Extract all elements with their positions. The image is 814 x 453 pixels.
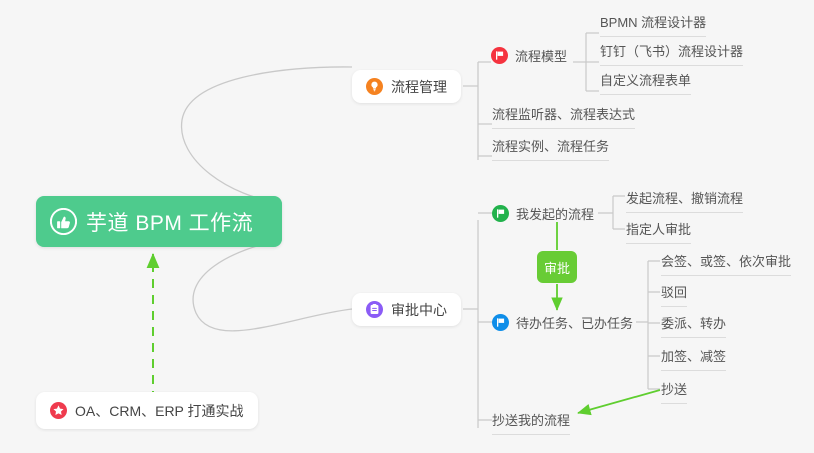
mid-label-process-model: 流程模型	[515, 46, 567, 65]
wire-cc-to-cc-mine	[578, 390, 660, 413]
document-icon	[366, 301, 383, 318]
mid-label-my-initiated: 我发起的流程	[516, 204, 594, 223]
note-label: OA、CRM、ERP 打通实战	[75, 401, 244, 421]
leaf-node-start-cancel-process[interactable]: 发起流程、撤销流程	[626, 188, 743, 213]
leaf-node-dingtalk-designer[interactable]: 钉钉（飞书）流程设计器	[600, 41, 743, 66]
note-node[interactable]: OA、CRM、ERP 打通实战	[36, 392, 258, 429]
star-icon	[50, 402, 67, 419]
root-node[interactable]: 芋道 BPM 工作流	[36, 196, 282, 247]
leaf-node-delegate-transfer[interactable]: 委派、转办	[661, 313, 726, 338]
leaf-node-assignee-approval[interactable]: 指定人审批	[626, 219, 691, 244]
approve-badge[interactable]: 审批	[537, 251, 577, 283]
lightbulb-icon	[366, 78, 383, 95]
leaf-node-cc[interactable]: 抄送	[661, 379, 687, 404]
leaf-node-custom-form[interactable]: 自定义流程表单	[600, 70, 691, 95]
wire-root-to-approval-center	[193, 240, 352, 331]
flag-green-icon	[492, 205, 509, 222]
leaf-node-countersign[interactable]: 会签、或签、依次审批	[661, 251, 791, 276]
leaf-node-cc-mine[interactable]: 抄送我的流程	[492, 410, 570, 435]
leaf-node-reject[interactable]: 驳回	[661, 282, 687, 307]
mid-label-todo-done: 待办任务、已办任务	[516, 313, 633, 332]
branch-label-approval-center: 审批中心	[391, 300, 447, 320]
branch-label-process-management: 流程管理	[391, 77, 447, 97]
flag-red-icon	[491, 47, 508, 64]
mindmap-canvas: 芋道 BPM 工作流 OA、CRM、ERP 打通实战 流程管理	[0, 0, 814, 453]
mid-node-process-model[interactable]: 流程模型	[491, 46, 567, 65]
branch-node-approval-center[interactable]: 审批中心	[352, 293, 461, 326]
wire-root-to-process-management	[182, 67, 352, 203]
leaf-node-bpmn[interactable]: BPMN 流程设计器	[600, 12, 706, 37]
leaf-node-add-remove-sign[interactable]: 加签、减签	[661, 346, 726, 371]
thumbs-up-icon	[50, 208, 77, 235]
leaf-node-listener-expression[interactable]: 流程监听器、流程表达式	[492, 104, 635, 129]
root-label: 芋道 BPM 工作流	[86, 207, 253, 237]
flag-blue-icon	[492, 314, 509, 331]
mid-node-todo-done[interactable]: 待办任务、已办任务	[492, 313, 633, 332]
leaf-node-instance-task[interactable]: 流程实例、流程任务	[492, 136, 609, 161]
branch-node-process-management[interactable]: 流程管理	[352, 70, 461, 103]
mid-node-my-initiated[interactable]: 我发起的流程	[492, 204, 594, 223]
